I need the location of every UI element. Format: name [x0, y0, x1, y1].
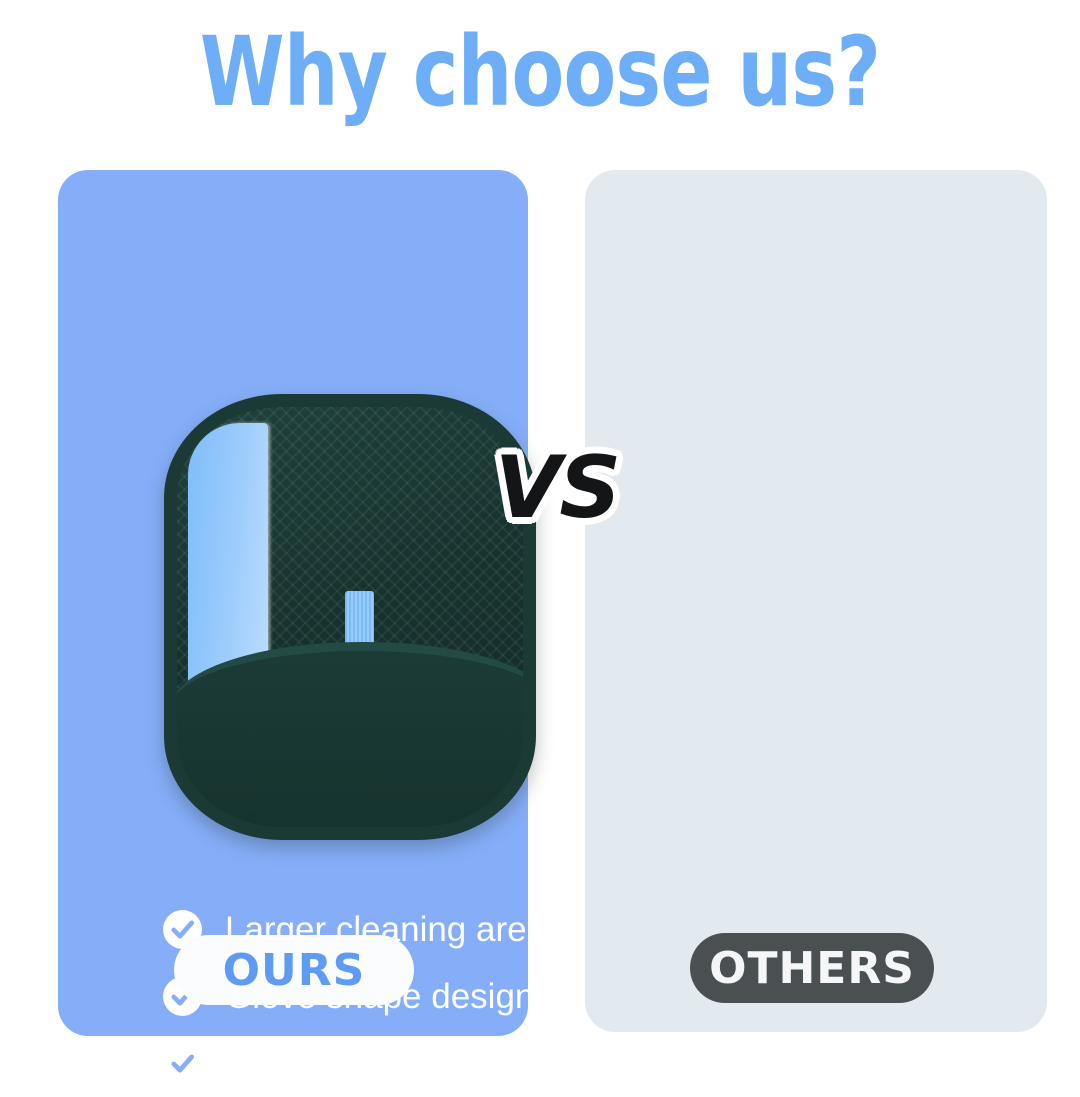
list-item-label: Multiple angles for use — [225, 1044, 575, 1084]
page-title: Why choose us? — [108, 24, 972, 120]
check-circle-icon — [162, 1043, 203, 1084]
glove-body — [164, 394, 536, 840]
comparison-panel-ours: Larger cleaning area Glove shape design … — [58, 170, 528, 1036]
glove-seam — [171, 642, 536, 840]
product-image-cleaning-glove — [164, 394, 536, 840]
glove-blue-side-panel — [188, 423, 268, 685]
vs-divider-label: VS — [492, 438, 622, 538]
list-item: Multiple angles for use — [162, 1030, 592, 1097]
badge-others: OTHERS — [690, 933, 934, 1003]
badge-ours: OURS — [174, 935, 414, 1005]
comparison-panel-others: Disposable items Discomforts Used on fla… — [585, 170, 1047, 1032]
